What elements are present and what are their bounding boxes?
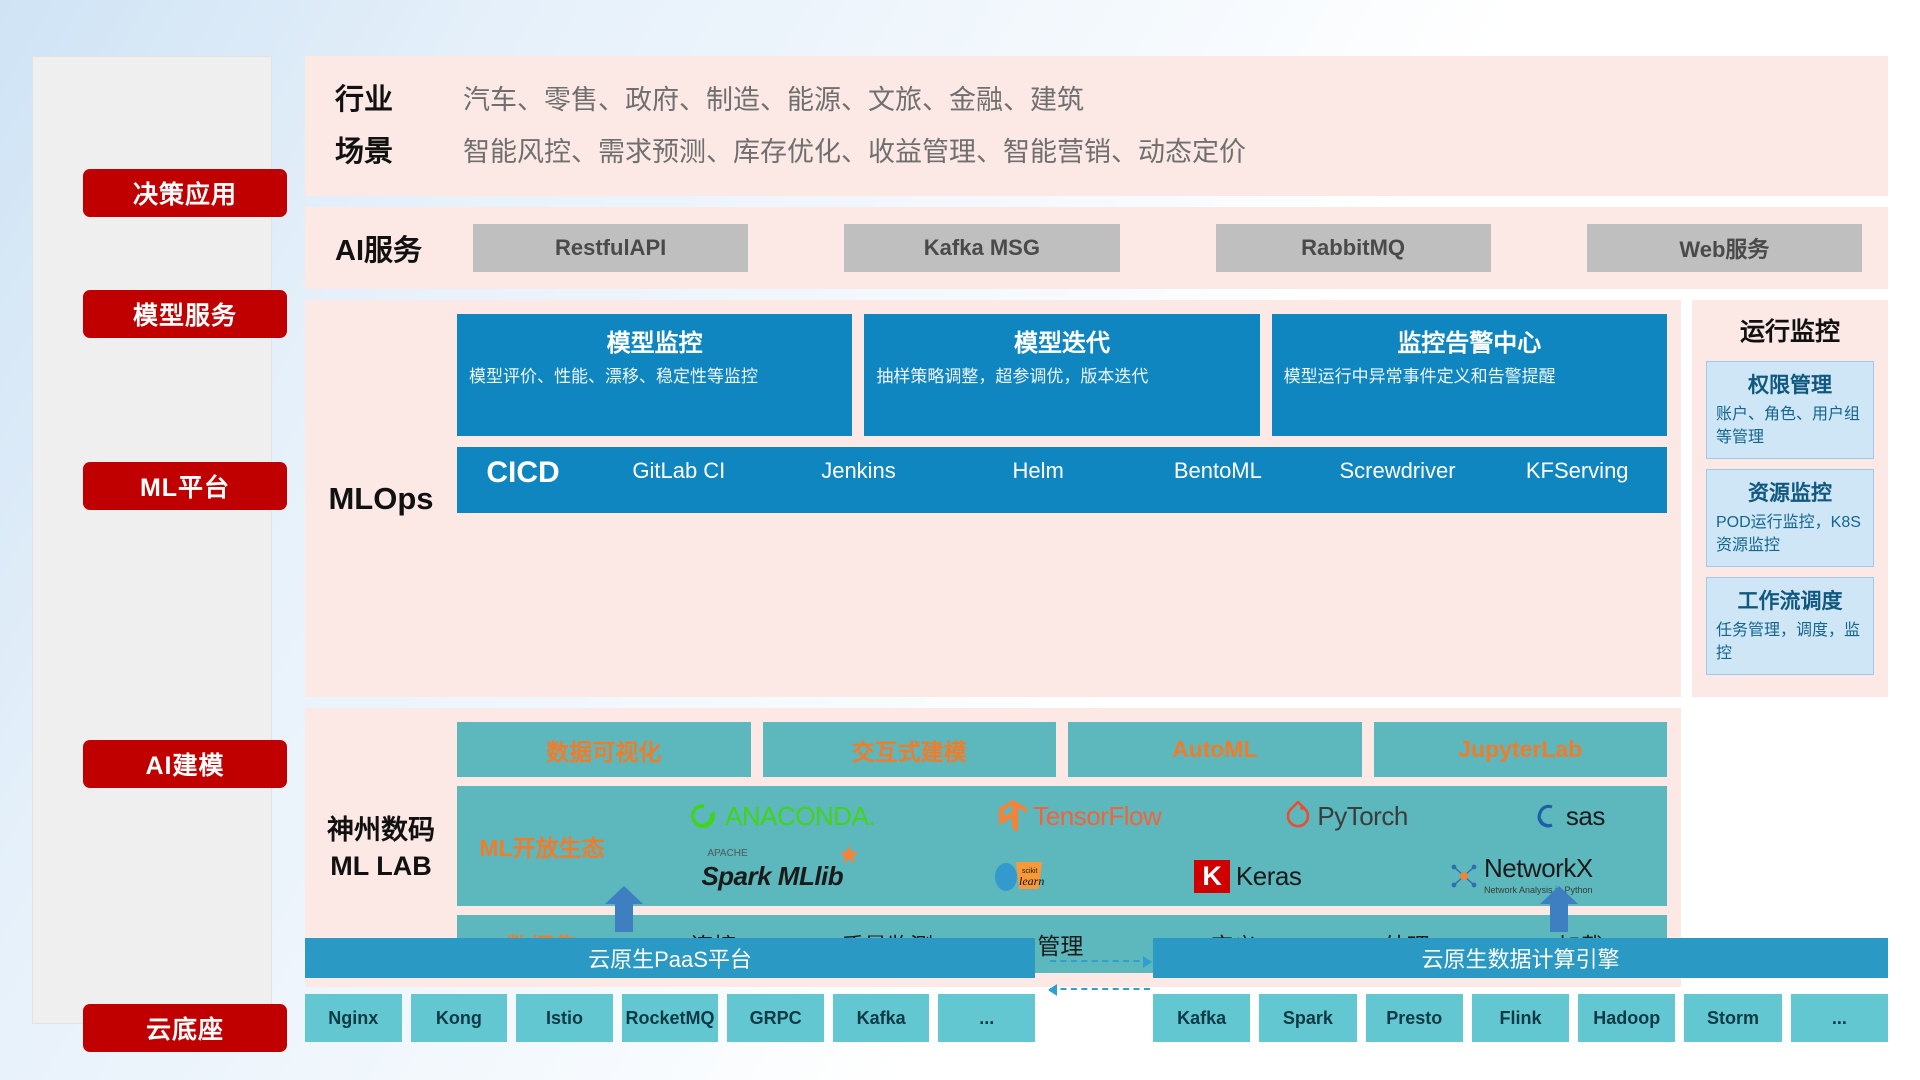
cicd-label: CICD <box>457 456 589 490</box>
anaconda-icon <box>689 801 719 831</box>
paas-chips: Nginx Kong Istio RocketMQ GRPC Kafka ... <box>305 994 1035 1042</box>
mlops-label: MLOps <box>305 314 457 683</box>
pytorch-label: PyTorch <box>1317 801 1407 832</box>
architecture-diagram: 决策应用 模型服务 ML平台 AI建模 云底座 行业 场景 汽车、零售、政府、制… <box>0 0 1920 1080</box>
mllab-label-line2: ML LAB <box>330 851 432 881</box>
cicd-tool-bentoml[interactable]: BentoML <box>1128 456 1308 486</box>
paas-chip-kafka[interactable]: Kafka <box>833 994 930 1042</box>
keras-label: Keras <box>1236 861 1301 892</box>
rail-tag-ai-modeling[interactable]: AI建模 <box>83 740 287 788</box>
modeling-tool-chips: 数据可视化 交互式建模 AutoML JupyterLab <box>457 722 1667 777</box>
card-desc: POD运行监控，K8S资源监控 <box>1716 511 1864 557</box>
scenario-label: 场景 <box>335 126 463 178</box>
industry-value: 汽车、零售、政府、制造、能源、文旅、金融、建筑 <box>463 74 1246 126</box>
compute-engine-column: 云原生数据计算引擎 Kafka Spark Presto Flink Hadoo… <box>1153 938 1888 1042</box>
mlops-card-model-iteration[interactable]: 模型迭代 抽样策略调整，超参调优，版本迭代 <box>864 314 1259 436</box>
card-desc: 任务管理，调度，监控 <box>1716 619 1864 665</box>
card-desc: 抽样策略调整，超参调优，版本迭代 <box>876 364 1247 389</box>
chip-automl[interactable]: AutoML <box>1068 722 1362 777</box>
tensorflow-icon <box>999 800 1027 832</box>
compute-chip-flink[interactable]: Flink <box>1472 994 1569 1042</box>
card-desc: 账户、角色、用户组等管理 <box>1716 403 1864 449</box>
paas-title: 云原生PaaS平台 <box>305 938 1035 978</box>
spark-apache-sup: APACHE <box>707 848 747 859</box>
ecosystem-label: ML开放生态 <box>457 829 627 863</box>
card-title: 工作流调度 <box>1716 585 1864 615</box>
chip-jupyterlab[interactable]: JupyterLab <box>1374 722 1668 777</box>
card-title: 监控告警中心 <box>1284 323 1655 358</box>
paas-chip-more[interactable]: ... <box>938 994 1035 1042</box>
pytorch-logo: PyTorch <box>1285 801 1407 832</box>
cicd-tools: GitLab CI Jenkins Helm BentoML Screwdriv… <box>589 456 1667 486</box>
cicd-bar: CICD GitLab CI Jenkins Helm BentoML Scre… <box>457 447 1667 513</box>
scikit-learn-logo: scikit learn <box>992 859 1046 893</box>
link-arrow-left <box>1050 988 1150 990</box>
card-desc: 模型运行中异常事件定义和告警提醒 <box>1284 364 1655 389</box>
cicd-tool-jenkins[interactable]: Jenkins <box>769 456 949 486</box>
ecosystem-logo-line-2: APACHE Spark MLlib <box>627 847 1667 905</box>
cicd-tool-kfserving[interactable]: KFServing <box>1487 456 1667 486</box>
ecosystem-logo-line-1: ANACONDA. TensorFlow <box>627 787 1667 845</box>
paas-column: 云原生PaaS平台 Nginx Kong Istio RocketMQ GRPC… <box>305 938 1035 1042</box>
compute-chip-hadoop[interactable]: Hadoop <box>1578 994 1675 1042</box>
chip-interactive-modeling[interactable]: 交互式建模 <box>763 722 1057 777</box>
rail-tag-ml-platform[interactable]: ML平台 <box>83 462 287 510</box>
pytorch-icon <box>1285 801 1311 831</box>
svg-text:learn: learn <box>1019 874 1044 888</box>
sas-icon <box>1532 802 1560 830</box>
compute-chip-presto[interactable]: Presto <box>1366 994 1463 1042</box>
monitor-title: 运行监控 <box>1706 312 1874 348</box>
arrow-up-paas-icon <box>605 886 643 932</box>
compute-chip-kafka[interactable]: Kafka <box>1153 994 1250 1042</box>
application-labels: 行业 场景 <box>335 74 463 178</box>
cicd-tool-gitlab-ci[interactable]: GitLab CI <box>589 456 769 486</box>
mlops-section: MLOps 模型监控 模型评价、性能、漂移、稳定性等监控 模型迭代 抽样策略调整… <box>305 300 1888 697</box>
card-title: 权限管理 <box>1716 369 1864 399</box>
keras-k-icon: K <box>1194 860 1230 893</box>
mlops-cards: 模型监控 模型评价、性能、漂移、稳定性等监控 模型迭代 抽样策略调整，超参调优，… <box>457 314 1667 436</box>
networkx-label: NetworkX <box>1484 855 1593 881</box>
paas-chip-grpc[interactable]: GRPC <box>727 994 824 1042</box>
cicd-tool-helm[interactable]: Helm <box>948 456 1128 486</box>
mlops-card-alert-center[interactable]: 监控告警中心 模型运行中异常事件定义和告警提醒 <box>1272 314 1667 436</box>
cloud-base-section: 云原生PaaS平台 Nginx Kong Istio RocketMQ GRPC… <box>305 900 1888 1050</box>
service-restfulapi[interactable]: RestfulAPI <box>473 224 748 272</box>
card-desc: 模型评价、性能、漂移、稳定性等监控 <box>469 364 840 389</box>
spark-label: Spark MLlib <box>701 861 843 891</box>
anaconda-label: ANACONDA. <box>725 801 875 832</box>
compute-engine-title: 云原生数据计算引擎 <box>1153 938 1888 978</box>
monitor-card-workflow[interactable]: 工作流调度 任务管理，调度，监控 <box>1706 577 1874 675</box>
compute-chip-storm[interactable]: Storm <box>1684 994 1781 1042</box>
sas-logo: sas <box>1532 801 1605 832</box>
paas-chip-nginx[interactable]: Nginx <box>305 994 402 1042</box>
scikit-learn-icon: scikit learn <box>992 859 1046 893</box>
rail-tag-decision-app[interactable]: 决策应用 <box>83 169 287 217</box>
monitor-column: 运行监控 权限管理 账户、角色、用户组等管理 资源监控 POD运行监控，K8S资… <box>1692 300 1888 697</box>
monitor-card-resource[interactable]: 资源监控 POD运行监控，K8S资源监控 <box>1706 469 1874 567</box>
arrow-up-compute-icon <box>1540 886 1578 932</box>
chip-data-visualization[interactable]: 数据可视化 <box>457 722 751 777</box>
card-title: 资源监控 <box>1716 477 1864 507</box>
ai-service-row: AI服务 RestfulAPI Kafka MSG RabbitMQ Web服务 <box>305 207 1888 289</box>
mlops-card-model-monitoring[interactable]: 模型监控 模型评价、性能、漂移、稳定性等监控 <box>457 314 852 436</box>
application-row: 行业 场景 汽车、零售、政府、制造、能源、文旅、金融、建筑 智能风控、需求预测、… <box>305 56 1888 196</box>
main-column: 行业 场景 汽车、零售、政府、制造、能源、文旅、金融、建筑 智能风控、需求预测、… <box>305 56 1888 987</box>
paas-chip-kong[interactable]: Kong <box>411 994 508 1042</box>
compute-chip-more[interactable]: ... <box>1791 994 1888 1042</box>
tensorflow-label: TensorFlow <box>1033 801 1161 832</box>
bidirectional-link <box>1050 960 1150 1016</box>
service-web[interactable]: Web服务 <box>1587 224 1862 272</box>
ai-service-boxes: RestfulAPI Kafka MSG RabbitMQ Web服务 <box>473 224 1862 272</box>
networkx-icon <box>1450 862 1478 890</box>
compute-chip-spark[interactable]: Spark <box>1259 994 1356 1042</box>
spark-star-icon <box>839 845 859 865</box>
mlops-row: MLOps 模型监控 模型评价、性能、漂移、稳定性等监控 模型迭代 抽样策略调整… <box>305 300 1681 697</box>
ai-service-label: AI服务 <box>335 227 473 269</box>
rail-tag-model-service[interactable]: 模型服务 <box>83 290 287 338</box>
card-title: 模型迭代 <box>876 323 1247 358</box>
link-arrow-right <box>1050 960 1150 962</box>
paas-chip-istio[interactable]: Istio <box>516 994 613 1042</box>
cicd-tool-screwdriver[interactable]: Screwdriver <box>1308 456 1488 486</box>
scenario-value: 智能风控、需求预测、库存优化、收益管理、智能营销、动态定价 <box>463 126 1246 178</box>
layer-rail: 决策应用 模型服务 ML平台 AI建模 云底座 <box>32 56 272 1024</box>
monitor-card-permission[interactable]: 权限管理 账户、角色、用户组等管理 <box>1706 361 1874 459</box>
spark-mllib-logo: APACHE Spark MLlib <box>701 861 843 892</box>
industry-label: 行业 <box>335 74 463 126</box>
rail-tag-cloud-base[interactable]: 云底座 <box>83 1004 287 1052</box>
tensorflow-logo: TensorFlow <box>999 800 1161 832</box>
compute-engine-chips: Kafka Spark Presto Flink Hadoop Storm ..… <box>1153 994 1888 1042</box>
paas-chip-rocketmq[interactable]: RocketMQ <box>622 994 719 1042</box>
keras-logo: K Keras <box>1194 860 1301 893</box>
anaconda-logo: ANACONDA. <box>689 801 875 832</box>
ecosystem-logos: ANACONDA. TensorFlow <box>627 787 1667 905</box>
mllab-label-line1: 神州数码 <box>327 815 435 845</box>
service-kafka-msg[interactable]: Kafka MSG <box>844 224 1119 272</box>
card-title: 模型监控 <box>469 323 840 358</box>
mlops-stack: 模型监控 模型评价、性能、漂移、稳定性等监控 模型迭代 抽样策略调整，超参调优，… <box>457 314 1667 683</box>
sas-label: sas <box>1566 801 1605 832</box>
application-values: 汽车、零售、政府、制造、能源、文旅、金融、建筑 智能风控、需求预测、库存优化、收… <box>463 74 1246 178</box>
service-rabbitmq[interactable]: RabbitMQ <box>1216 224 1491 272</box>
